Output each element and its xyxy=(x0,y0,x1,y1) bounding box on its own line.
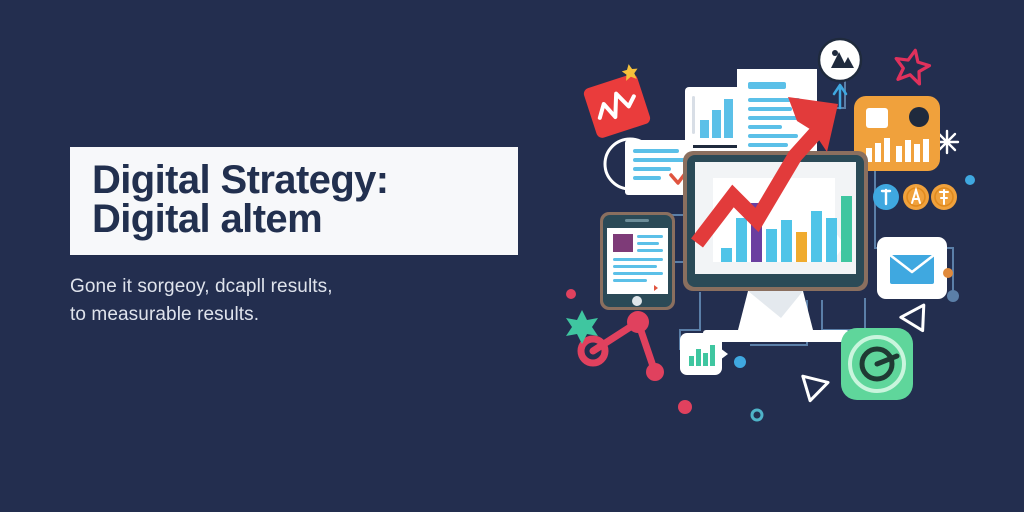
target-icon xyxy=(841,328,913,400)
connector-dot-1 xyxy=(947,290,959,302)
badge-circle-icon xyxy=(819,39,861,81)
coin-orange-2-icon xyxy=(931,184,957,210)
title-box: Digital Strategy: Digital altem xyxy=(70,147,518,255)
coin-orange-1-icon xyxy=(903,184,929,210)
star-outline-pink-icon xyxy=(892,47,932,85)
subtitle-line-1: Gone it sorgeoy, dcapll results, xyxy=(70,273,530,301)
subtitle-line-2: to measurable results. xyxy=(70,301,530,329)
envelope-card xyxy=(877,237,947,299)
tablet-device xyxy=(600,212,675,310)
coin-blue-icon xyxy=(873,184,899,210)
illustration xyxy=(545,0,1024,512)
page-title-line-1: Digital Strategy: xyxy=(92,161,496,200)
mini-chart-bubble xyxy=(680,333,728,375)
triangle-outline-2-icon xyxy=(797,376,828,404)
subtitle: Gone it sorgeoy, dcapll results, to meas… xyxy=(70,273,530,328)
page-title-line-2: Digital altem xyxy=(92,200,496,239)
pulse-card xyxy=(582,73,651,140)
text-block: Digital Strategy: Digital altem Gone it … xyxy=(70,147,530,328)
marketing-banner: Digital Strategy: Digital altem Gone it … xyxy=(0,0,1024,512)
connector-dot-2 xyxy=(734,356,746,368)
